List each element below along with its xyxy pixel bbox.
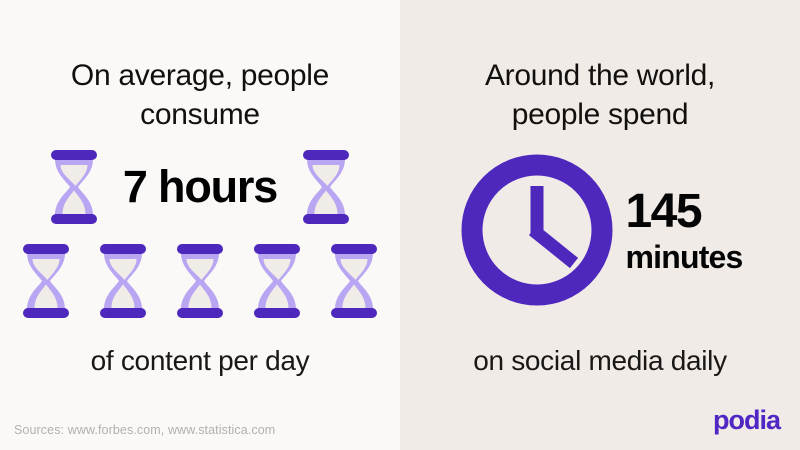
right-panel-stat-unit: minutes xyxy=(625,241,742,273)
hourglass-row-top: 7 hours xyxy=(0,143,400,231)
clock-icon xyxy=(457,150,617,310)
right-panel: Around the world, people spend 145 minut… xyxy=(400,0,800,450)
hourglass-icon xyxy=(17,237,75,325)
podia-logo: podia xyxy=(713,405,780,436)
left-panel: On average, people consume 7 hours xyxy=(0,0,400,450)
hourglass-row-bottom xyxy=(0,237,400,325)
left-panel-caption: of content per day xyxy=(0,345,400,377)
left-panel-heading: On average, people consume xyxy=(0,56,400,134)
infographic-canvas: On average, people consume 7 hours xyxy=(0,0,800,450)
hourglass-icon xyxy=(297,143,355,231)
right-panel-stat-number: 145 xyxy=(625,188,701,236)
hourglass-icon xyxy=(248,237,306,325)
clock-stat-group: 145 minutes xyxy=(400,150,800,310)
right-panel-heading: Around the world, people spend xyxy=(400,56,800,134)
right-panel-caption: on social media daily xyxy=(400,345,800,377)
hourglass-icon xyxy=(325,237,383,325)
hourglass-icon xyxy=(45,143,103,231)
sources-text: Sources: www.forbes.com, www.statistica.… xyxy=(14,423,275,437)
left-panel-stat: 7 hours xyxy=(103,161,297,213)
hourglass-icon xyxy=(94,237,152,325)
hourglass-icon xyxy=(171,237,229,325)
minutes-stat-block: 145 minutes xyxy=(625,188,742,273)
